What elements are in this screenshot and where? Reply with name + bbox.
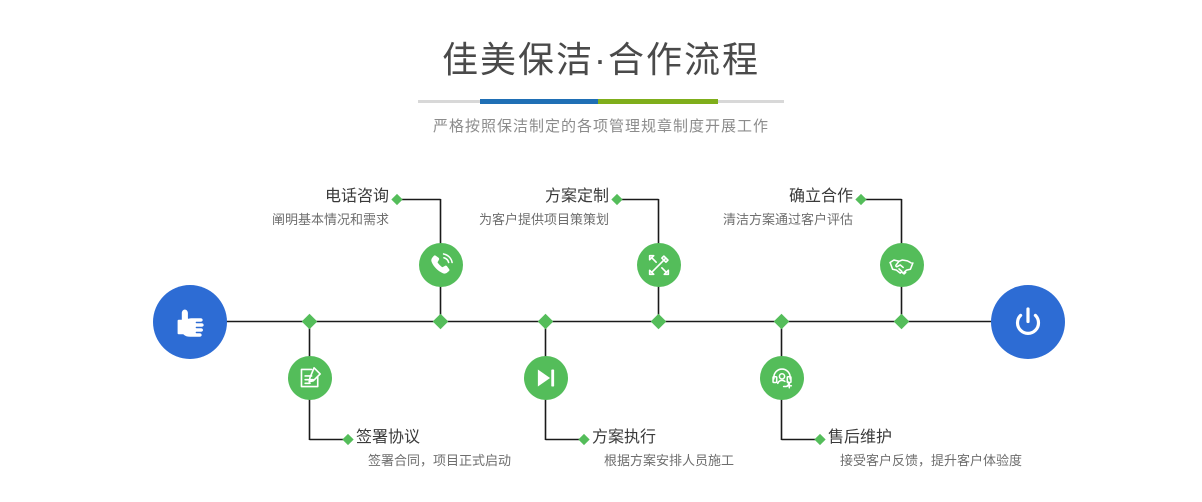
step-desc-3: 为客户提供项目策策划 — [357, 210, 609, 229]
pointing-hand-icon — [170, 302, 210, 342]
phone-call-icon — [428, 252, 454, 278]
play-step-icon — [533, 365, 559, 391]
flow-connectors — [0, 0, 1202, 502]
step-desc-2: 签署合同，项目正式启动 — [368, 451, 616, 470]
step-node-2[interactable] — [288, 356, 332, 400]
power-icon — [1008, 302, 1048, 342]
step-label-4: 方案执行 根据方案安排人员施工 — [592, 428, 852, 470]
process-flow: 电话咨询 阐明基本情况和需求 方案定制 为客户提供项目策策划 确立合作 清洁方案… — [0, 0, 1202, 502]
step-title-3: 方案定制 — [357, 187, 609, 207]
flow-start-node[interactable] — [153, 285, 227, 359]
step-node-3[interactable] — [637, 243, 681, 287]
step-node-4[interactable] — [524, 356, 568, 400]
pencil-ruler-icon — [646, 252, 672, 278]
flow-chart-page: 佳美保洁·合作流程 严格按照保洁制定的各项管理规章制度开展工作 — [0, 0, 1202, 502]
step-label-3: 方案定制 为客户提供项目策策划 — [357, 187, 609, 229]
step-desc-1: 阐明基本情况和需求 — [137, 210, 389, 229]
step-label-1: 电话咨询 阐明基本情况和需求 — [137, 187, 389, 229]
step-node-6[interactable] — [760, 356, 804, 400]
step-title-2: 签署协议 — [356, 428, 616, 448]
step-label-5: 确立合作 清洁方案通过客户评估 — [601, 187, 853, 229]
step-title-1: 电话咨询 — [137, 187, 389, 207]
customer-service-icon — [769, 365, 795, 391]
flow-end-node[interactable] — [991, 285, 1065, 359]
step-title-5: 确立合作 — [601, 187, 853, 207]
step-label-2: 签署协议 签署合同，项目正式启动 — [356, 428, 616, 470]
step-label-6: 售后维护 接受客户反馈，提升客户体验度 — [828, 428, 1108, 470]
document-edit-icon — [297, 365, 323, 391]
step-desc-6: 接受客户反馈，提升客户体验度 — [840, 451, 1108, 470]
step-desc-5: 清洁方案通过客户评估 — [601, 210, 853, 229]
step-node-1[interactable] — [419, 243, 463, 287]
step-title-6: 售后维护 — [828, 428, 1108, 448]
step-node-5[interactable] — [880, 243, 924, 287]
step-title-4: 方案执行 — [592, 428, 852, 448]
step-desc-4: 根据方案安排人员施工 — [604, 451, 852, 470]
handshake-icon — [888, 252, 915, 279]
